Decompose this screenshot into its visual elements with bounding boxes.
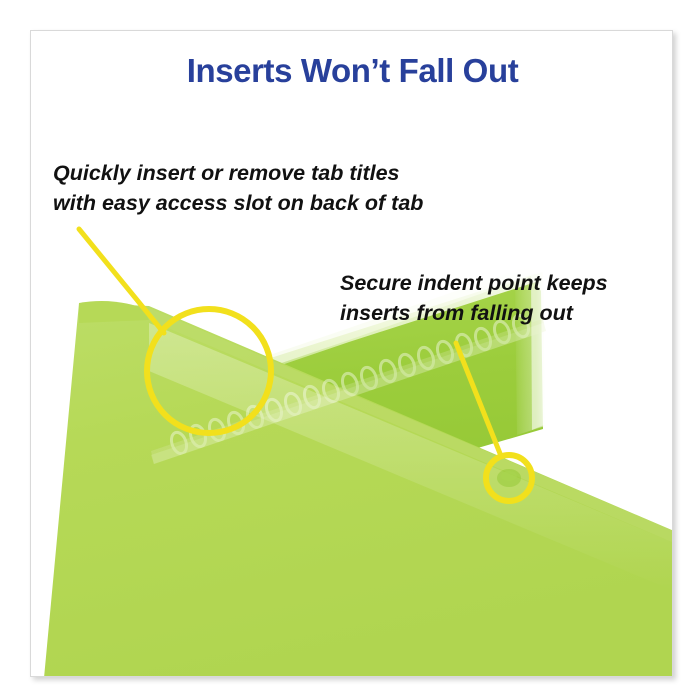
callout-circle-access-slot <box>147 309 271 433</box>
page-title: Inserts Won’t Fall Out <box>31 53 673 89</box>
callout-indent-point-line1: Secure indent point keeps <box>340 269 608 299</box>
callout-access-slot-line2: with easy access slot on back of tab <box>53 189 423 219</box>
image-canvas: Inserts Won’t Fall Out Quickly insert or… <box>0 0 700 700</box>
callout-access-slot: Quickly insert or remove tab titles with… <box>53 159 423 218</box>
callout-leader-access-slot <box>79 229 164 333</box>
callout-circle-indent-point <box>486 455 532 501</box>
callout-access-slot-line1: Quickly insert or remove tab titles <box>53 159 423 189</box>
callout-overlay <box>31 31 673 677</box>
callout-leader-indent-point <box>456 343 501 456</box>
callout-indent-point-line2: inserts from falling out <box>340 299 608 329</box>
product-photo-card: Inserts Won’t Fall Out Quickly insert or… <box>30 30 673 677</box>
callout-indent-point: Secure indent point keeps inserts from f… <box>340 269 608 328</box>
